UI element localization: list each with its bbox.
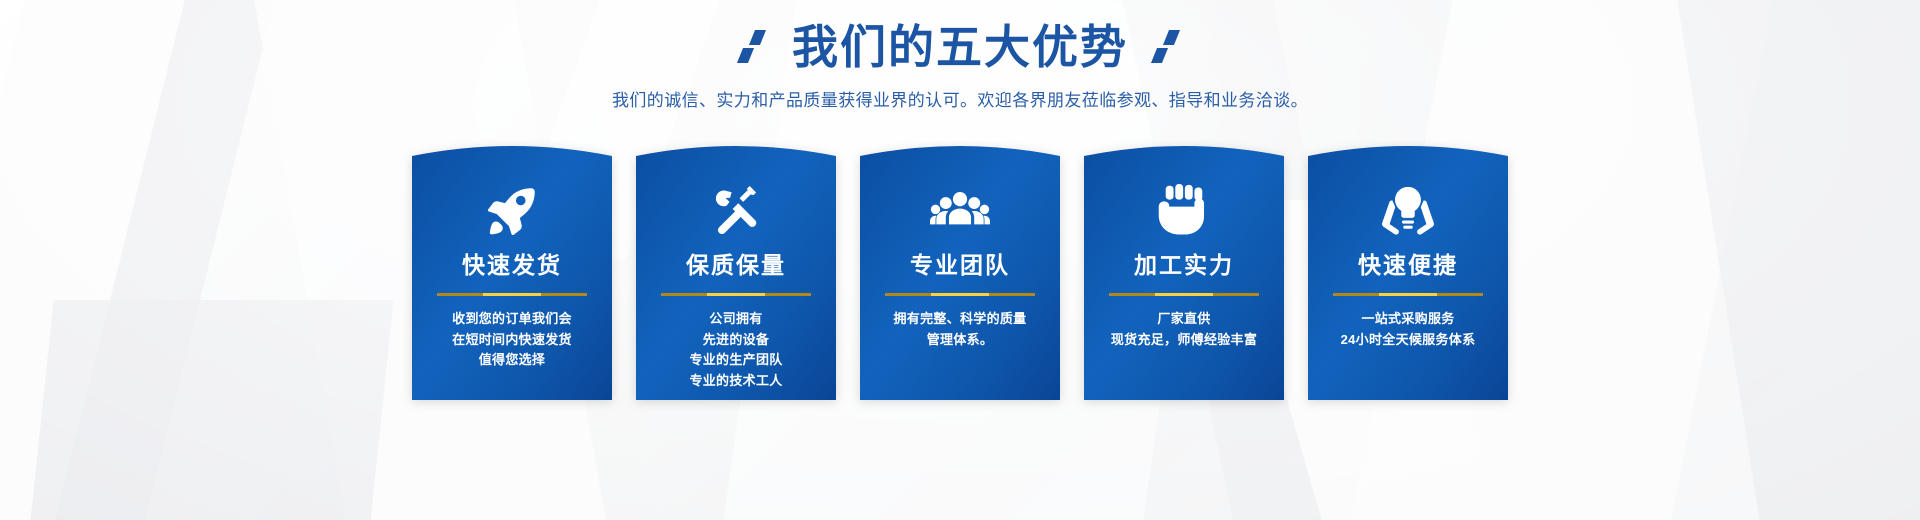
card-desc-line: 专业的生产团队: [689, 350, 782, 371]
card-divider: [1333, 293, 1483, 296]
header: 我们的五大优势 我们的诚信、实力和产品质量获得业界的认可。欢迎各界朋友莅临参观、…: [0, 0, 1920, 112]
card-desc-line: 现货充足，师傅经验丰富: [1111, 330, 1257, 351]
card-title: 加工实力: [1134, 254, 1234, 277]
card-desc-line: 值得您选择: [452, 350, 572, 371]
card-divider: [661, 293, 811, 296]
card-desc-line: 24小时全天候服务体系: [1341, 330, 1476, 351]
double-slash-icon-left: [736, 30, 770, 64]
page-subtitle: 我们的诚信、实力和产品质量获得业界的认可。欢迎各界朋友莅临参观、指导和业务洽谈。: [0, 90, 1920, 112]
team-icon: [929, 182, 991, 240]
title-row: 我们的五大优势: [0, 16, 1920, 78]
card-divider: [437, 293, 587, 296]
card-desc-line: 专业的技术工人: [689, 371, 782, 392]
fist-icon: [1153, 182, 1215, 240]
page-title: 我们的五大优势: [792, 24, 1128, 70]
card-title: 快速便捷: [1358, 254, 1458, 277]
card-desc-line: 先进的设备: [689, 330, 782, 351]
card-desc-line: 拥有完整、科学的质量: [893, 309, 1026, 330]
card-description: 一站式采购服务 24小时全天候服务体系: [1341, 309, 1476, 350]
card-desc-line: 收到您的订单我们会: [452, 309, 572, 330]
idea-hands-icon: [1377, 182, 1439, 240]
advantage-card[interactable]: 保质保量 公司拥有 先进的设备 专业的生产团队 专业的技术工人: [636, 142, 836, 400]
advantages-banner: 我们的五大优势 我们的诚信、实力和产品质量获得业界的认可。欢迎各界朋友莅临参观、…: [0, 0, 1920, 520]
card-description: 公司拥有 先进的设备 专业的生产团队 专业的技术工人: [689, 309, 782, 391]
advantage-card[interactable]: 专业团队 拥有完整、科学的质量 管理体系。: [860, 142, 1060, 400]
advantage-card[interactable]: 快速便捷 一站式采购服务 24小时全天候服务体系: [1308, 142, 1508, 400]
rocket-icon: [481, 182, 543, 240]
card-desc-line: 在短时间内快速发货: [452, 330, 572, 351]
advantage-card[interactable]: 加工实力 厂家直供 现货充足，师傅经验丰富: [1084, 142, 1284, 400]
card-description: 厂家直供 现货充足，师傅经验丰富: [1111, 309, 1257, 350]
card-desc-line: 厂家直供: [1111, 309, 1257, 330]
tools-icon: [705, 182, 767, 240]
advantage-card-list: 快速发货 收到您的订单我们会 在短时间内快速发货 值得您选择: [0, 142, 1920, 400]
card-description: 拥有完整、科学的质量 管理体系。: [893, 309, 1026, 350]
card-title: 保质保量: [686, 254, 786, 277]
advantage-card[interactable]: 快速发货 收到您的订单我们会 在短时间内快速发货 值得您选择: [412, 142, 612, 400]
card-title: 快速发货: [462, 254, 562, 277]
card-title: 专业团队: [910, 254, 1010, 277]
double-slash-icon-right: [1150, 30, 1184, 64]
card-desc-line: 一站式采购服务: [1341, 309, 1476, 330]
card-desc-line: 管理体系。: [893, 330, 1026, 351]
card-desc-line: 公司拥有: [689, 309, 782, 330]
card-divider: [1109, 293, 1259, 296]
card-description: 收到您的订单我们会 在短时间内快速发货 值得您选择: [452, 309, 572, 371]
card-divider: [885, 293, 1035, 296]
